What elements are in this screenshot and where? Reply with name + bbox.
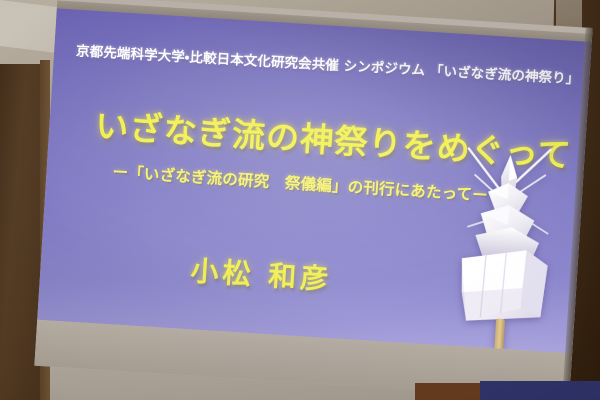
projection-screen-surface: 京都先端科学大学・比較日本文化研究会共催 シンポジウム 「いざなぎ流の神祭り」 …: [34, 0, 592, 399]
furniture-navy: [480, 381, 600, 400]
projection-screen: 京都先端科学大学・比較日本文化研究会共催 シンポジウム 「いざなぎ流の神祭り」 …: [34, 0, 592, 399]
projected-slide-photo: 京都先端科学大学・比較日本文化研究会共催 シンポジウム 「いざなぎ流の神祭り」 …: [0, 0, 600, 400]
slide-header-line: 京都先端科学大学・比較日本文化研究会共催 シンポジウム 「いざなぎ流の神祭り」: [76, 39, 580, 87]
slide-author-name: 小松 和彦: [189, 249, 333, 298]
presentation-slide: 京都先端科学大学・比較日本文化研究会共催 シンポジウム 「いざなぎ流の神祭り」 …: [37, 8, 592, 353]
furniture-brown: [415, 383, 485, 400]
